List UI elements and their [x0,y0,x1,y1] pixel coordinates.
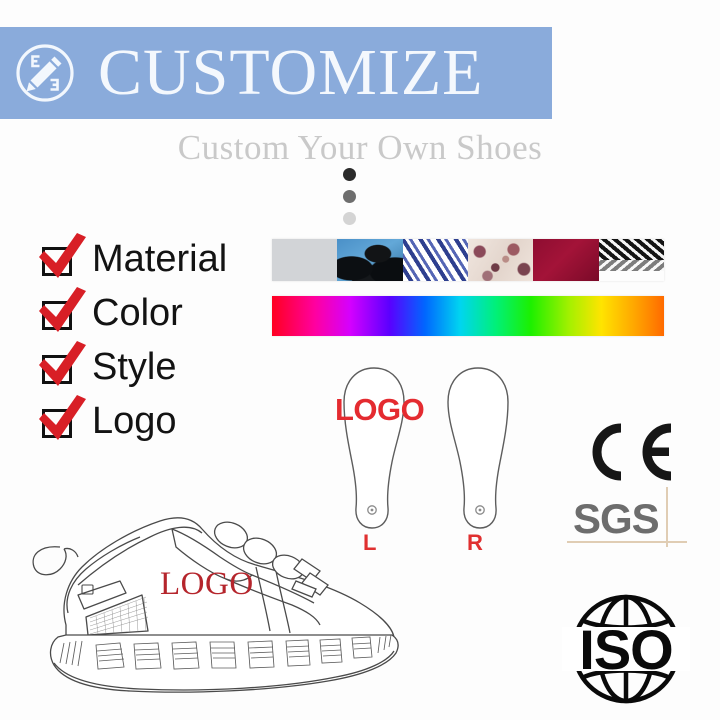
checkbox-square [42,247,72,276]
ce-mark [585,423,675,481]
checklist-item-color[interactable]: Color [38,286,268,340]
insole-right [448,368,508,528]
dot-dark [343,168,356,181]
dot-indicator-stack [339,168,359,234]
checkbox-color[interactable] [38,293,78,333]
checklist-label: Color [92,293,183,333]
swatch-blue-camo[interactable] [337,239,402,281]
pencil-edit-icon [14,42,76,104]
page-title: CUSTOMIZE [98,40,483,106]
dot-medium [343,190,356,203]
sgs-label: SGS [573,497,659,541]
checklist-label: Style [92,347,176,387]
checkbox-square [42,409,72,438]
checklist-item-style[interactable]: Style [38,340,268,394]
swatch-chevron[interactable] [599,239,664,281]
swatch-blue-stripe[interactable] [403,239,468,281]
swatch-maroon[interactable] [533,239,598,281]
iso-mark: ISO [556,590,696,708]
swatch-floral[interactable] [468,239,533,281]
checklist-item-material[interactable]: Material [38,232,268,286]
sgs-rule-vertical [666,487,668,547]
rainbow-gradient-bar[interactable] [272,296,664,336]
checklist-label: Logo [92,401,177,441]
subtitle: Custom Your Own Shoes [0,128,720,168]
insole-label-right: R [467,530,483,556]
ce-mark-icon [585,423,675,481]
checkbox-material[interactable] [38,239,78,279]
header-banner: CUSTOMIZE [0,27,552,119]
insole-logo-text: LOGO [335,394,424,425]
checkbox-style[interactable] [38,347,78,387]
swatch-plain-gray[interactable] [272,239,337,281]
checkbox-square [42,355,72,384]
checklist-item-logo[interactable]: Logo [38,394,268,448]
customization-checklist: Material Color Style Logo [38,232,268,448]
checkbox-square [42,301,72,330]
checkbox-logo[interactable] [38,401,78,441]
svg-text:ISO: ISO [579,618,672,681]
iso-globe-icon: ISO [556,590,696,708]
checklist-label: Material [92,239,227,279]
material-swatch-strip[interactable] [272,239,664,281]
sgs-mark: SGS [573,495,683,551]
shoe-logo-text: LOGO [160,568,254,601]
dot-light [343,212,356,225]
